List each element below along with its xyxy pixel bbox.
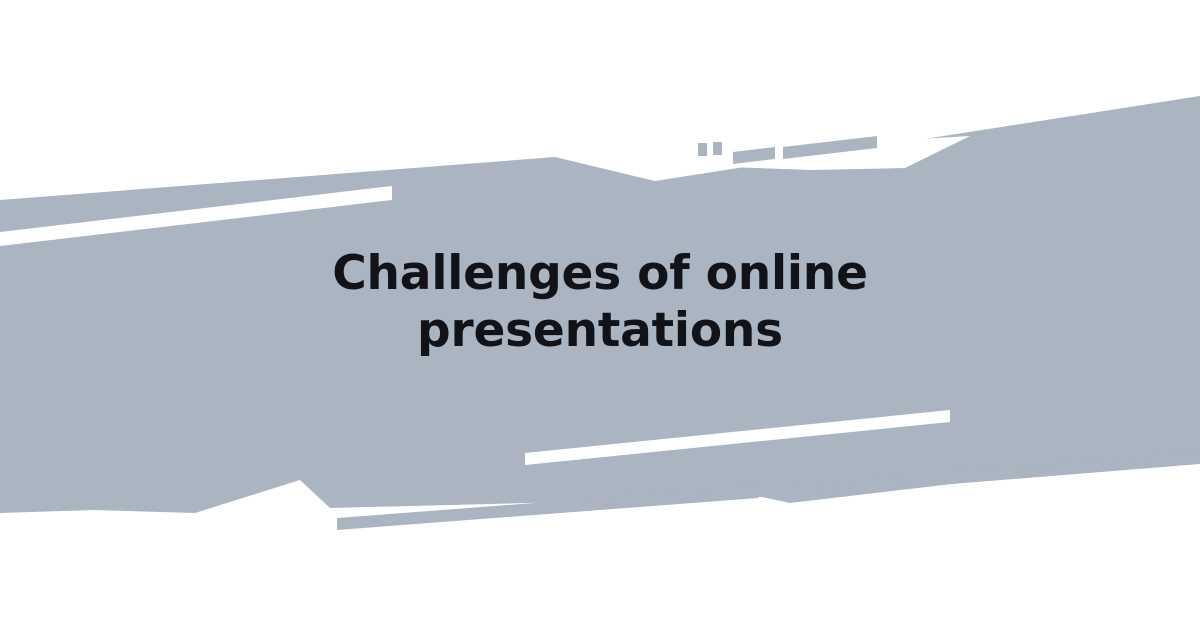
decorative-background-graphic <box>0 0 1200 630</box>
social-card: Challenges of online presentations <box>0 0 1200 630</box>
top-dash-1 <box>698 143 707 156</box>
top-dash-2 <box>713 142 722 155</box>
